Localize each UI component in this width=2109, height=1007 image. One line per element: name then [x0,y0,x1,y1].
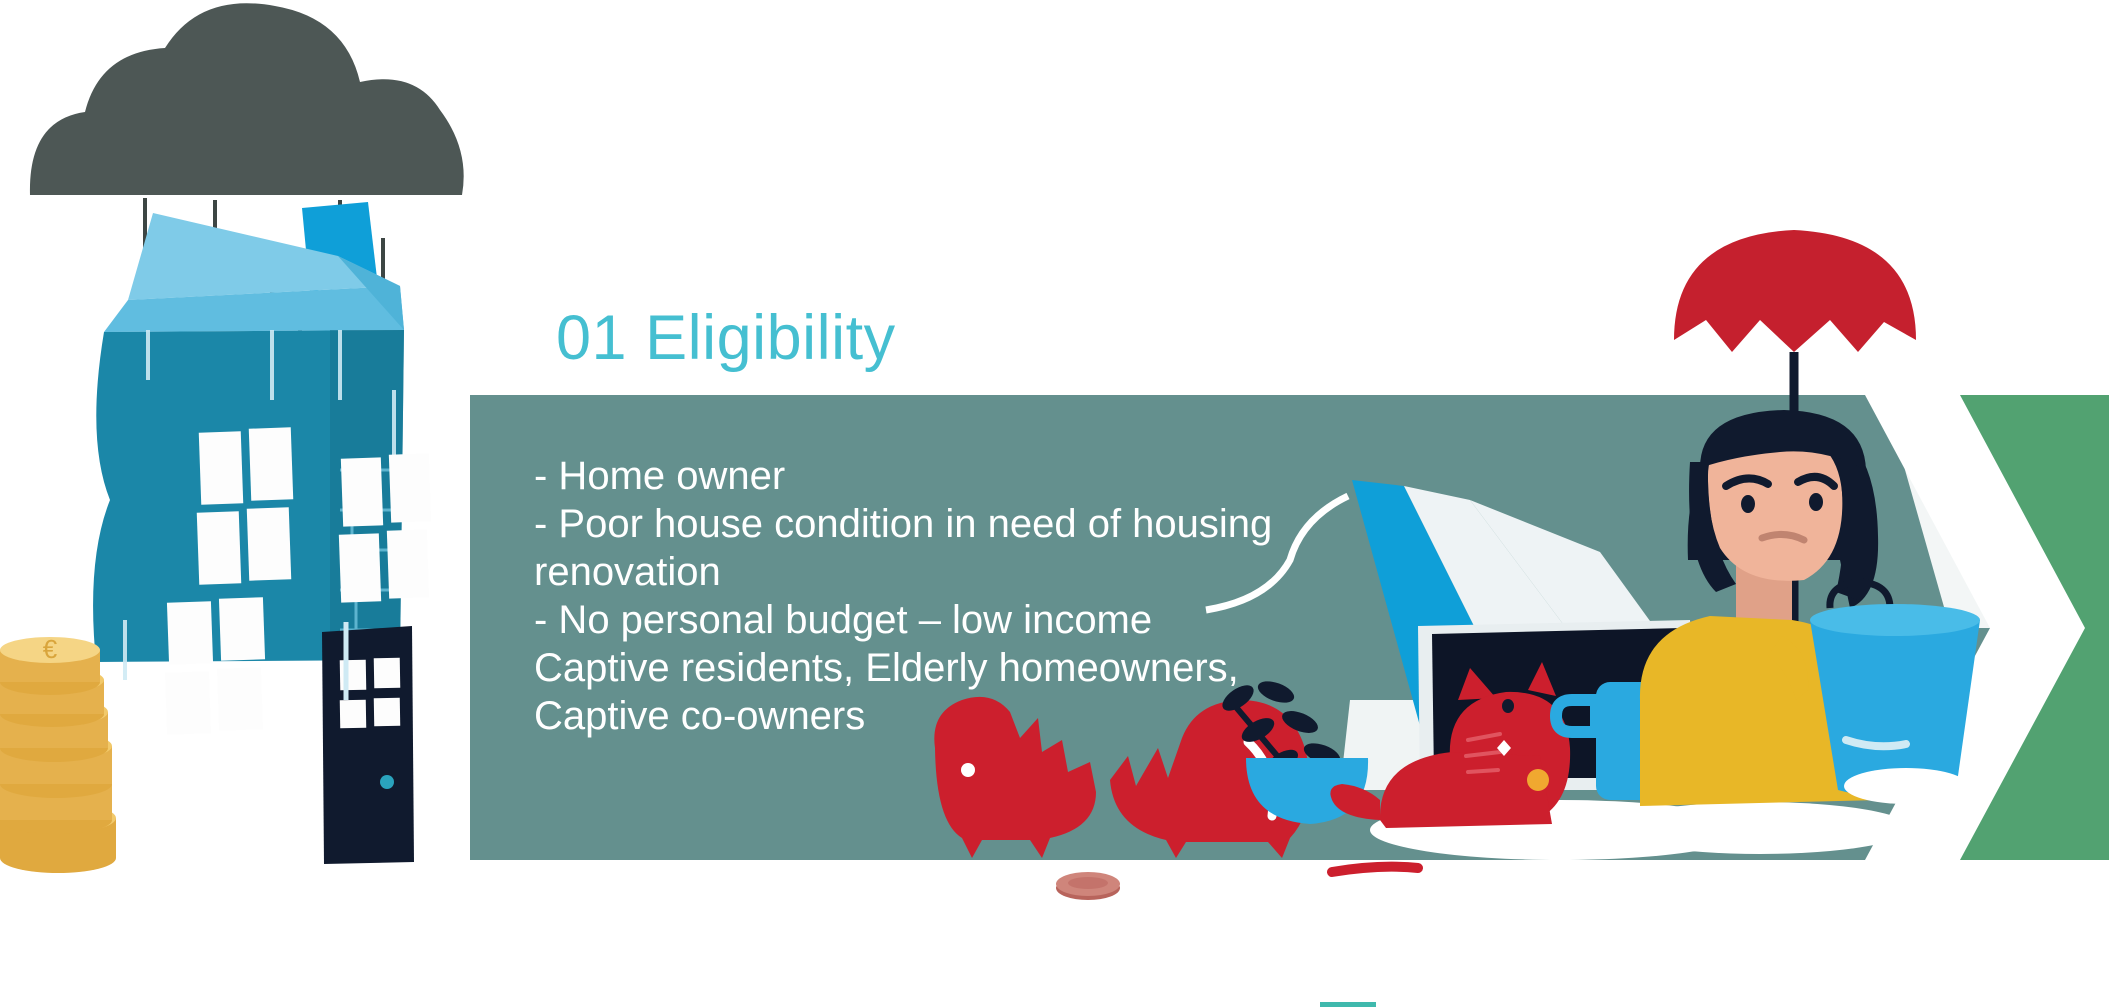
criteria-line-1: - Home owner [534,452,1294,500]
criteria-line-4: - No personal budget – low income [534,596,1294,644]
criteria-line-2: - Poor house condition in need of housin… [534,500,1294,548]
slide-canvas: € [0,0,2109,1007]
criteria-line-6: Captive co-owners [534,692,1294,740]
fallen-coin [1056,872,1120,900]
page-title: 01 Eligibility [556,305,896,371]
eligibility-criteria-list: - Home owner - Poor house condition in n… [534,452,1294,740]
blue-bucket-icon [1810,582,1980,798]
umbrella-highlight [1872,348,1990,628]
criteria-line-5: Captive residents, Elderly homeowners, [534,644,1294,692]
white-cup [1844,768,1968,804]
criteria-line-3: renovation [534,548,1294,596]
bottom-accent-sliver [1320,1002,1376,1007]
